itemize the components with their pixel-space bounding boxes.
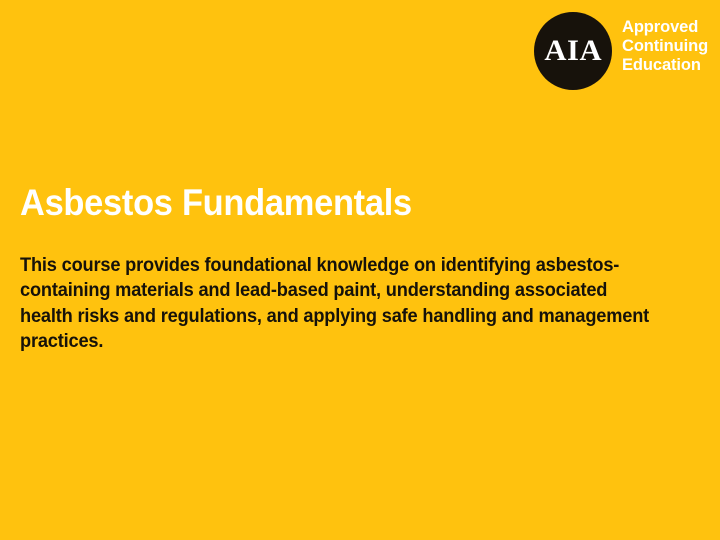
- aia-tagline-line-3: Education: [622, 56, 708, 75]
- aia-tagline-line-2: Continuing: [622, 37, 708, 56]
- course-promo-slide: AIA Approved Continuing Education Asbest…: [0, 0, 720, 540]
- aia-tagline: Approved Continuing Education: [622, 18, 708, 75]
- aia-tagline-line-1: Approved: [622, 18, 708, 37]
- course-title: Asbestos Fundamentals: [20, 183, 412, 223]
- course-description: This course provides foundational knowle…: [20, 253, 656, 355]
- aia-circle-mark-icon: AIA: [534, 12, 612, 90]
- aia-mark-label: AIA: [544, 36, 602, 66]
- aia-logo-lockup: AIA Approved Continuing Education: [534, 12, 720, 92]
- course-meta-band: On-Demand 1 Health, Safety, and Welfare …: [0, 430, 720, 530]
